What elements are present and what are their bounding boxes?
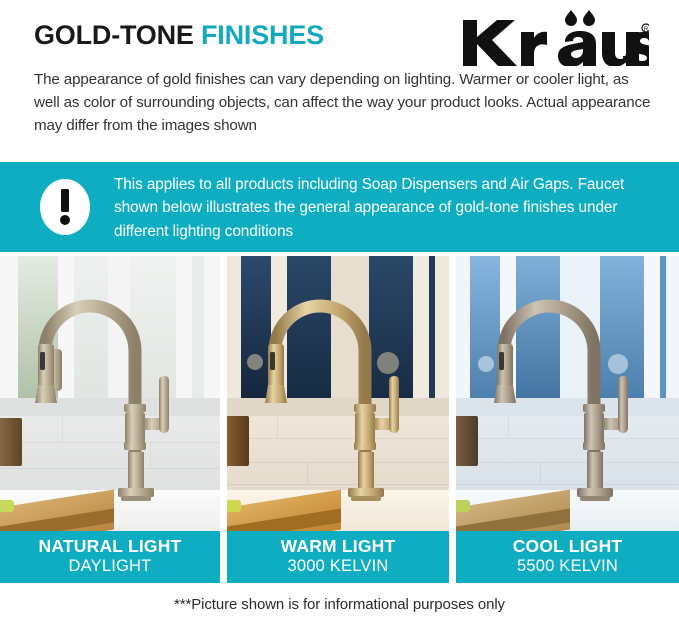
panel-label-sub: DAYLIGHT [69,557,152,576]
svg-text:R: R [644,27,649,33]
panel-label-sub: 5500 KELVIN [517,557,618,576]
faucet-illustration [456,256,679,531]
panel-warm-light[interactable]: WARM LIGHT 3000 KELVIN [227,256,449,583]
panel-label-main: NATURAL LIGHT [39,537,182,557]
faucet-photo-natural-light [0,256,220,531]
footer-disclaimer: ***Picture shown is for informational pu… [0,596,679,613]
kraus-logo: R [459,8,649,66]
panel-cool-light[interactable]: COOL LIGHT 5500 KELVIN [456,256,679,583]
faucet-illustration [227,256,449,531]
faucet-illustration [0,256,220,531]
notice-text: This applies to all products including S… [114,173,659,243]
page-title-primary: GOLD-TONE [34,20,194,50]
panel-label-main: WARM LIGHT [281,537,396,557]
panel-label-sub: 3000 KELVIN [288,557,389,576]
page-title: GOLD-TONE FINISHES [34,22,324,49]
panel-label-natural-light: NATURAL LIGHT DAYLIGHT [0,531,220,583]
water-drop-icon [565,10,577,26]
gold-tone-finishes-infographic: GOLD-TONE FINISHES R T [0,0,679,629]
faucet-photo-warm-light [227,256,449,531]
faucet-photo-cool-light [456,256,679,531]
panel-natural-light[interactable]: NATURAL LIGHT DAYLIGHT [0,256,220,583]
panel-label-main: COOL LIGHT [513,537,623,557]
lighting-comparison-panels: NATURAL LIGHT DAYLIGHT [0,256,679,583]
panel-label-warm-light: WARM LIGHT 3000 KELVIN [227,531,449,583]
panel-label-cool-light: COOL LIGHT 5500 KELVIN [456,531,679,583]
exclamation-circle-icon [36,178,94,236]
header: GOLD-TONE FINISHES R T [0,0,679,162]
intro-paragraph: The appearance of gold finishes can vary… [34,68,656,137]
page-title-accent: FINISHES [201,20,324,50]
notice-banner: This applies to all products including S… [0,162,679,252]
water-drop-icon [583,10,595,26]
